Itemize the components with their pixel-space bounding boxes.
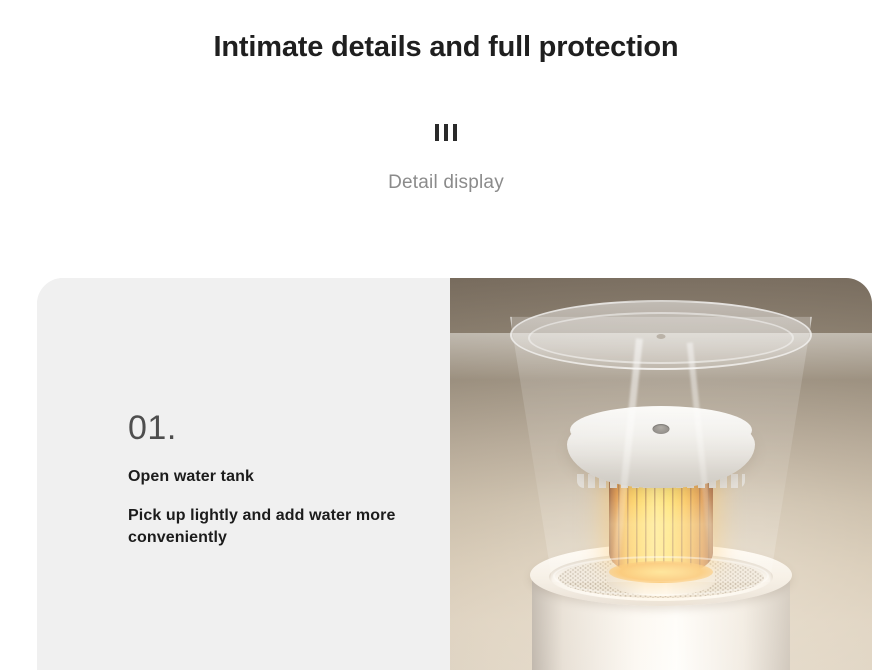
card-text-pane: 01. Open water tank Pick up lightly and …	[37, 278, 450, 670]
divider-mark-icon	[435, 124, 439, 141]
step-description: Pick up lightly and add water more conve…	[128, 505, 458, 550]
section-subtitle: Detail display	[0, 172, 892, 194]
detail-card: 01. Open water tank Pick up lightly and …	[37, 278, 872, 670]
divider-mark-icon	[444, 124, 448, 141]
step-heading: Open water tank	[128, 468, 254, 486]
product-image	[450, 278, 872, 670]
step-number: 01.	[128, 411, 177, 445]
image-vignette-overlay	[450, 278, 872, 670]
divider-mark-icon	[453, 124, 457, 141]
page-title: Intimate details and full protection	[0, 31, 892, 64]
divider-marks	[0, 124, 892, 141]
